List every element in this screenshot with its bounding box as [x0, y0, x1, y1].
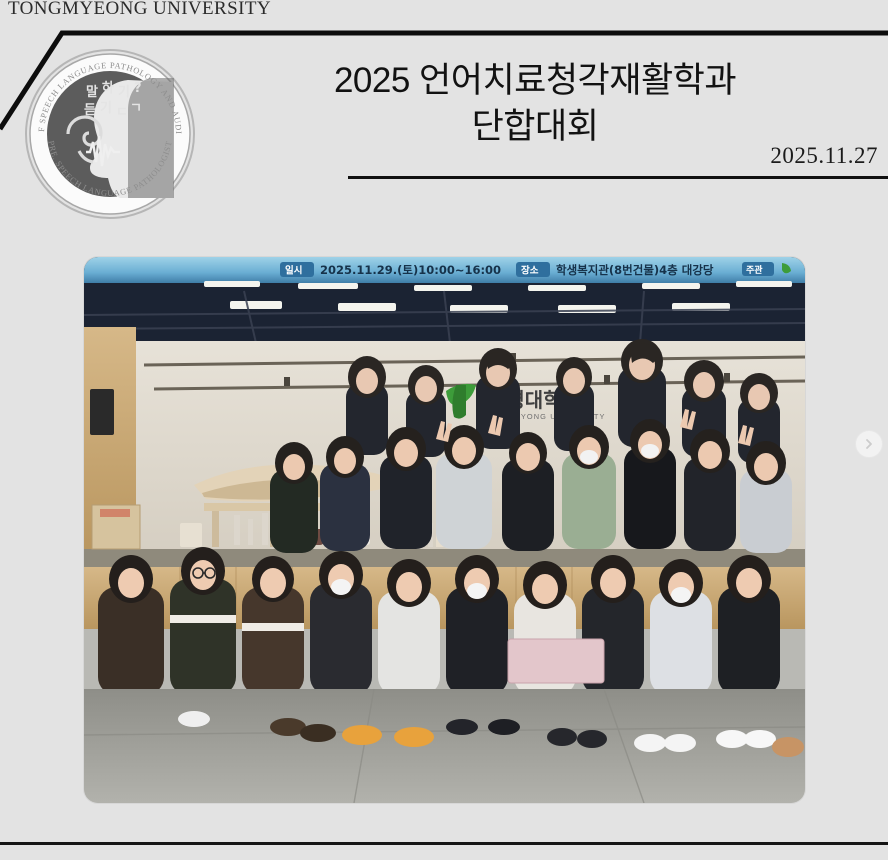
event-photo[interactable]: 일시 2025.11.29.(토)10:00~16:00 장소 학생복지관(8번…	[84, 257, 805, 803]
page-title: 2025 언어치료청각재활학과 단합대회	[205, 58, 865, 150]
header-divider	[348, 176, 888, 179]
svg-text:기: 기	[118, 85, 130, 100]
banner-place-badge: 장소	[521, 265, 539, 277]
svg-text:하: 하	[102, 80, 114, 96]
title-line-2: 단합대회	[205, 104, 865, 150]
chevron-right-icon	[863, 438, 875, 450]
title-line-1: 2025 언어치료청각재활학과	[334, 61, 736, 100]
carousel-next-button[interactable]	[855, 430, 883, 458]
university-label: TONGMYEONG UNIVERSITY	[8, 0, 271, 20]
banner-date-text: 2025.11.29.(토)10:00~16:00	[320, 263, 501, 277]
event-photo-canvas: 일시 2025.11.29.(토)10:00~16:00 장소 학생복지관(8번…	[84, 257, 805, 803]
department-emblem-logo: 말하 기? 듣기 ㄷㄱ DEPT. OF SPEECH LANGUAGE PAT…	[24, 48, 196, 220]
svg-text:기: 기	[100, 101, 112, 116]
bottom-strip	[0, 845, 888, 860]
svg-text:말: 말	[86, 85, 98, 100]
post-page: TONGMYEONG UNIVERSITY 말하	[0, 0, 888, 860]
banner-place-text: 학생복지관(8번건물)4층 대강당	[556, 263, 714, 277]
svg-text:ㄱ: ㄱ	[130, 101, 142, 116]
svg-text:?: ?	[134, 81, 142, 96]
svg-text:ㄷ: ㄷ	[116, 105, 128, 120]
banner-host-badge: 주관	[746, 264, 763, 276]
post-date: 2025.11.27	[770, 143, 878, 169]
svg-text:듣: 듣	[84, 103, 96, 118]
banner-date-badge: 일시	[285, 265, 302, 277]
